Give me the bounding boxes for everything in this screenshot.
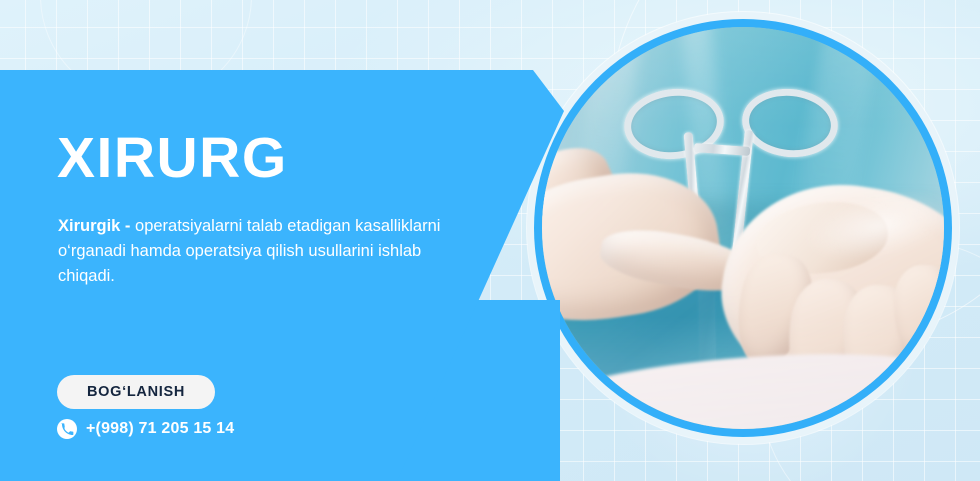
banner-description: Xirurgik - operatsiyalarni talab etadiga…: [58, 214, 478, 289]
surgery-photo-scene: [542, 27, 944, 429]
surgery-promo-banner: XIRURG Xirurgik - operatsiyalarni talab …: [0, 0, 980, 481]
banner-description-lead: Xirurgik -: [58, 217, 130, 235]
phone-link[interactable]: +(998) 71 205 15 14: [57, 419, 234, 439]
photo-overlay: [542, 27, 944, 429]
contact-button[interactable]: BOG‘LANISH: [57, 375, 215, 409]
surgery-photo: [542, 27, 944, 429]
phone-number: +(998) 71 205 15 14: [86, 420, 234, 438]
phone-icon: [57, 419, 77, 439]
page-title: XIRURG: [57, 130, 288, 187]
